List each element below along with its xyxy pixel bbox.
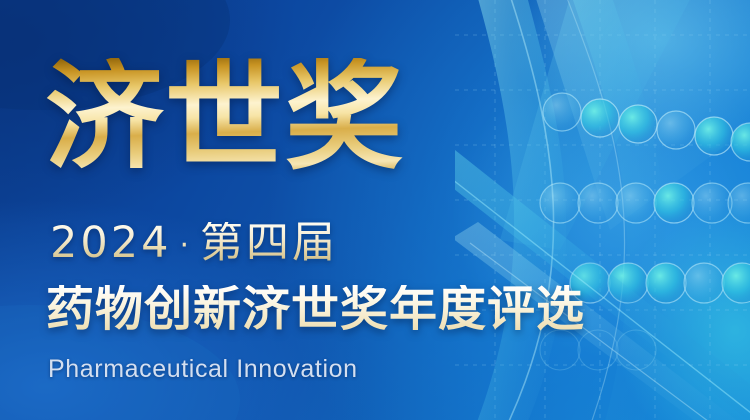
banner-copy: 济世奖 2024·第四届 药物创新济世奖年度评选 Pharmaceutical …: [0, 0, 750, 420]
award-title: 济世奖: [45, 58, 405, 176]
award-banner: 济世奖 2024·第四届 药物创新济世奖年度评选 Pharmaceutical …: [0, 0, 750, 420]
edition-line: 2024·第四届: [50, 222, 338, 265]
edition-separator: ·: [171, 228, 200, 263]
english-subtitle: Pharmaceutical Innovation: [48, 357, 358, 382]
edition-ordinal: 第四届: [200, 218, 338, 268]
edition-year: 2024: [50, 218, 171, 268]
headline: 药物创新济世奖年度评选: [46, 285, 585, 333]
